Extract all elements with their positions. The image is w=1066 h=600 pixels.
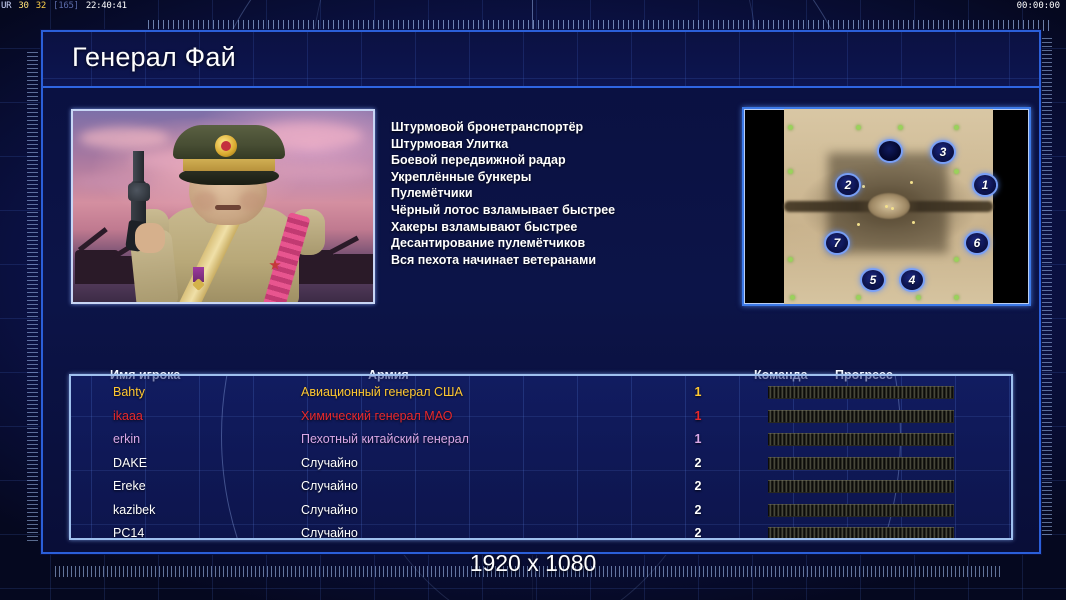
general-hand <box>135 223 165 253</box>
cheek <box>239 191 263 211</box>
resource-node <box>954 125 959 130</box>
ability-item: Пулемётчики <box>391 185 696 202</box>
player-army: Случайно <box>301 499 358 523</box>
status-value-b: 32 <box>35 0 47 13</box>
game-clock: 00:00:00 <box>1017 0 1060 13</box>
player-progress-bar <box>768 504 954 517</box>
start-position-6: 6 <box>966 233 988 253</box>
mouth <box>215 205 241 210</box>
player-name: PC14 <box>113 522 144 540</box>
resource-node <box>954 257 959 262</box>
start-position-4: 4 <box>901 270 923 290</box>
status-time: 22:40:41 <box>85 0 128 13</box>
player-progress-bar <box>768 527 954 540</box>
player-team: 1 <box>687 381 709 405</box>
resource-node <box>954 295 959 300</box>
player-name: Bahty <box>113 381 145 405</box>
cap-badge-icon <box>215 135 237 157</box>
resource-node <box>790 295 795 300</box>
ability-item: Боевой передвижной радар <box>391 152 696 169</box>
ability-item: Вся пехота начинает ветеранами <box>391 252 696 269</box>
player-name: erkin <box>113 428 140 452</box>
minimap-terrain: 3217654 <box>784 109 993 304</box>
player-progress-bar <box>768 386 954 399</box>
player-progress-bar <box>768 480 954 493</box>
resource-gold <box>885 205 888 208</box>
table-row[interactable]: ErekeСлучайно2 <box>71 475 1013 499</box>
revolver-cylinder <box>128 183 150 201</box>
player-army: Случайно <box>301 522 358 540</box>
player-name: ikaaa <box>113 405 143 429</box>
player-name: Ereke <box>113 475 146 499</box>
ability-item: Чёрный лотос взламывает быстрее <box>391 202 696 219</box>
status-bar: UR 30 32 [165] 22:40:41 <box>0 0 1066 13</box>
resource-node <box>788 125 793 130</box>
title-bar: Генерал Фай <box>43 32 1039 88</box>
player-team: 1 <box>687 428 709 452</box>
player-army: Химический генерал МАО <box>301 405 452 429</box>
ability-item: Десантирование пулемётчиков <box>391 235 696 252</box>
minimap-preview[interactable]: 3217654 <box>742 107 1031 306</box>
player-army: Пехотный китайский генерал <box>301 428 469 452</box>
start-position-7: 7 <box>826 233 848 253</box>
player-progress-bar <box>768 410 954 423</box>
resource-node <box>954 169 959 174</box>
ability-item: Штурмовой бронетранспортёр <box>391 119 696 136</box>
start-position-unassigned <box>879 141 901 161</box>
player-team: 2 <box>687 522 709 540</box>
cloud <box>273 163 373 179</box>
cheek <box>193 191 217 211</box>
portrait-image <box>73 111 373 302</box>
player-list-panel: BahtyАвиационный генерал США1ikaaaХимиче… <box>69 374 1013 540</box>
tank-silhouette <box>331 254 373 284</box>
player-name: DAKE <box>113 452 147 476</box>
resolution-label: 1920 x 1080 <box>0 550 1066 577</box>
start-position-1: 1 <box>974 175 996 195</box>
start-position-2: 2 <box>837 175 859 195</box>
resource-node <box>788 169 793 174</box>
minimap-center-feature <box>868 193 910 219</box>
player-name: kazibek <box>113 499 155 523</box>
resource-node <box>856 125 861 130</box>
player-team: 2 <box>687 499 709 523</box>
player-team: 2 <box>687 452 709 476</box>
resource-gold <box>857 223 860 226</box>
resource-node <box>898 125 903 130</box>
resource-gold <box>891 207 894 210</box>
ruler-tick-strip-left <box>27 52 38 544</box>
page-title: Генерал Фай <box>72 42 236 73</box>
general-portrait <box>71 109 375 304</box>
start-position-5: 5 <box>862 270 884 290</box>
player-progress-bar <box>768 457 954 470</box>
player-army: Случайно <box>301 452 358 476</box>
cloud <box>79 127 169 149</box>
status-label: UR <box>0 0 12 13</box>
info-row: Штурмовой бронетранспортёр Штурмовая Ули… <box>43 90 1039 306</box>
resource-gold <box>912 221 915 224</box>
ruler-tick-strip-right <box>1041 38 1052 538</box>
table-row[interactable]: kazibekСлучайно2 <box>71 499 1013 523</box>
player-team: 1 <box>687 405 709 429</box>
main-panel: Генерал Фай <box>41 30 1041 554</box>
player-army: Авиационный генерал США <box>301 381 463 405</box>
ability-list: Штурмовой бронетранспортёр Штурмовая Ули… <box>391 119 696 268</box>
resource-gold <box>910 181 913 184</box>
ability-item: Штурмовая Улитка <box>391 136 696 153</box>
ability-item: Укреплённые бункеры <box>391 169 696 186</box>
resource-node <box>788 257 793 262</box>
status-value-a: 30 <box>17 0 29 13</box>
resource-gold <box>862 185 865 188</box>
player-army: Случайно <box>301 475 358 499</box>
table-row[interactable]: erkinПехотный китайский генерал1 <box>71 428 1013 452</box>
table-row[interactable]: PC14Случайно2 <box>71 522 1013 540</box>
status-value-c: [165] <box>52 0 80 13</box>
start-position-3: 3 <box>932 142 954 162</box>
table-row[interactable]: BahtyАвиационный генерал США1 <box>71 381 1013 405</box>
player-progress-bar <box>768 433 954 446</box>
player-team: 2 <box>687 475 709 499</box>
resource-node <box>856 295 861 300</box>
medal-icon <box>193 267 204 282</box>
table-row[interactable]: DAKEСлучайно2 <box>71 452 1013 476</box>
table-row[interactable]: ikaaaХимический генерал МАО1 <box>71 405 1013 429</box>
resource-node <box>916 295 921 300</box>
ability-item: Хакеры взламывают быстрее <box>391 219 696 236</box>
